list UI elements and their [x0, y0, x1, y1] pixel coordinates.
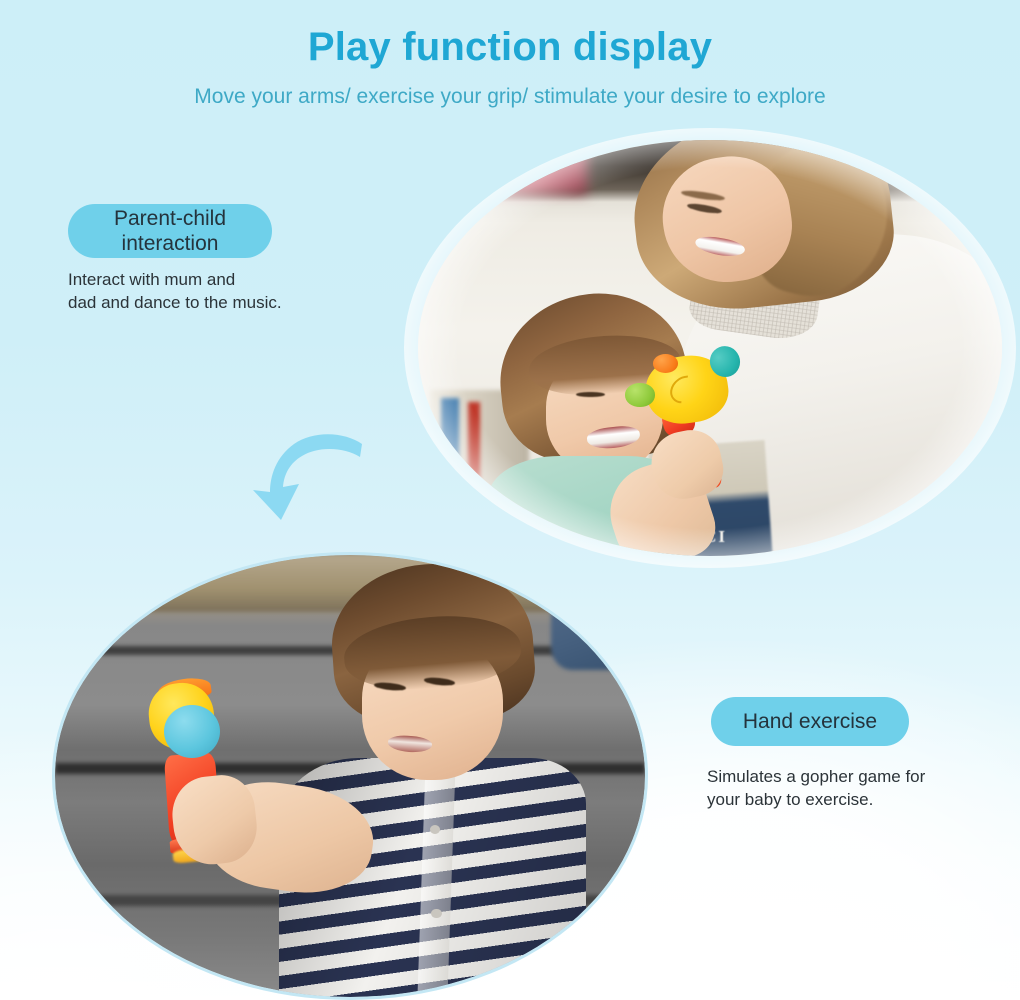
- curved-arrow-down-left-icon: [250, 430, 370, 522]
- photo-scene-top: S SCI: [418, 140, 1002, 556]
- photo-hand-exercise: [52, 552, 648, 1000]
- photo-parent-child-interaction: S SCI: [404, 128, 1016, 568]
- description-parent-child-interaction: Interact with mum and dad and dance to t…: [68, 268, 358, 314]
- photo-scene-bottom: [55, 555, 645, 997]
- page-title: Play function display: [0, 24, 1020, 70]
- promo-banner: Play function display Move your arms/ ex…: [0, 0, 1020, 1000]
- photo-frame-bottom: [55, 555, 645, 997]
- description-hand-exercise: Simulates a gopher game for your baby to…: [707, 765, 997, 811]
- photo-frame-top: S SCI: [418, 140, 1002, 556]
- badge-hand-exercise: Hand exercise: [711, 697, 909, 746]
- badge-parent-child-interaction: Parent-child interaction: [68, 204, 272, 258]
- page-subtitle: Move your arms/ exercise your grip/ stim…: [0, 84, 1020, 110]
